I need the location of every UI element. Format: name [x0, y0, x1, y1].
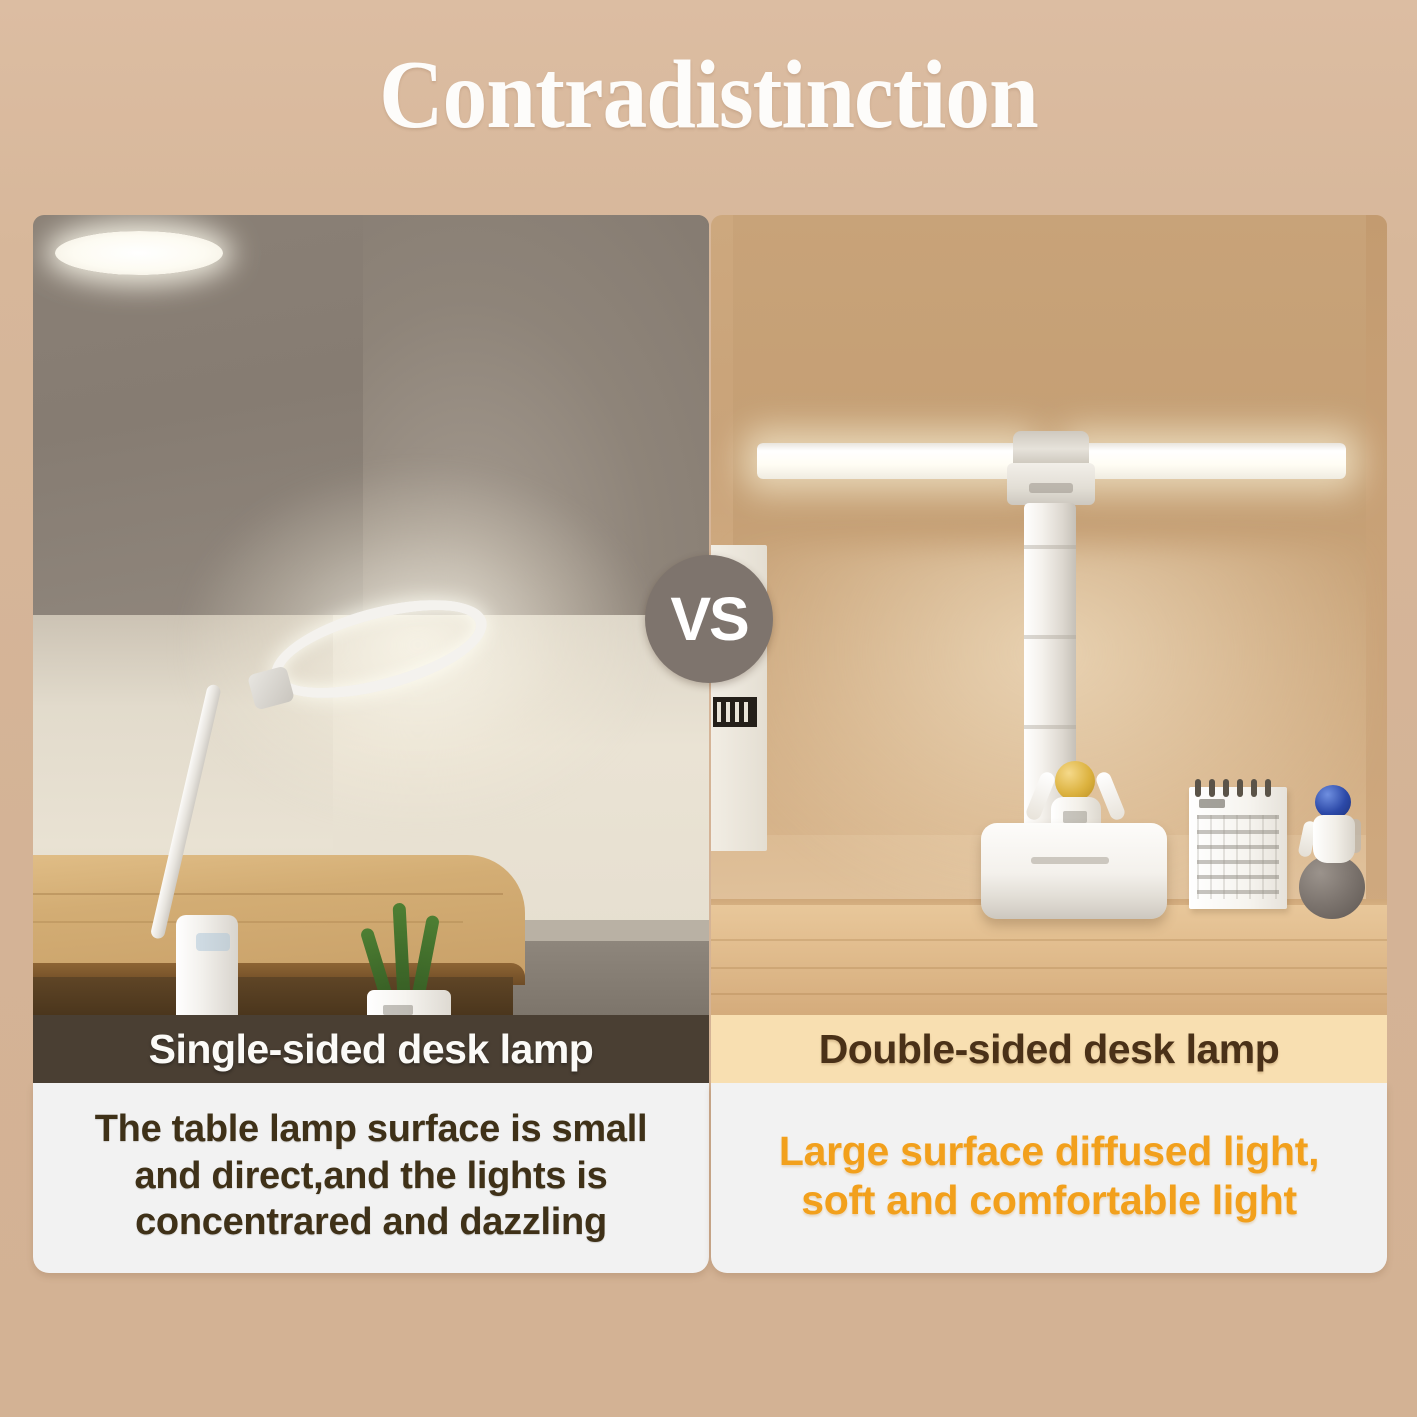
astronaut-blue-sphere [1299, 855, 1365, 919]
lamp-base [981, 823, 1167, 919]
description-single-sided: The table lamp surface is small and dire… [95, 1106, 647, 1245]
lamp-post-joint-1 [1024, 545, 1076, 549]
lamp-ring-light [55, 231, 223, 275]
desk-grain-1 [33, 893, 503, 895]
description-line: and direct,and the lights is [95, 1153, 647, 1199]
caption-single-sided: Single-sided desk lamp [33, 1015, 709, 1083]
calendar-date-columns [1197, 815, 1279, 899]
comparison-column-right: Double-sided desk lamp Large surface dif… [711, 215, 1387, 1273]
infographic-page: Contradistinction [0, 0, 1417, 1417]
double-sided-lamp-photo [711, 215, 1387, 1015]
page-title: Contradistinction [57, 44, 1361, 146]
description-double-sided: Large surface diffused light, soft and c… [779, 1127, 1319, 1225]
lamp-post-joint-3 [1024, 725, 1076, 729]
vs-badge: VS [645, 555, 773, 683]
lamp-bar-right [1071, 443, 1346, 479]
lamp-hinge-top [1013, 431, 1089, 467]
single-sided-lamp-photo [33, 215, 709, 1015]
astronaut-gold-helmet [1055, 761, 1095, 801]
astronaut-blue-helmet [1315, 785, 1351, 819]
lamp-hinge-notch [1029, 483, 1073, 493]
desk-surface [33, 855, 525, 975]
astronaut-blue-body [1313, 815, 1355, 863]
lamp-post-joint-2 [1024, 635, 1076, 639]
description-line: soft and comfortable light [779, 1176, 1319, 1225]
description-line: The table lamp surface is small [95, 1106, 647, 1152]
lamp-bar-left [757, 443, 1027, 479]
lamp-switch [196, 933, 230, 951]
caption-double-sided: Double-sided desk lamp [711, 1015, 1387, 1083]
calendar-binder-rings [1195, 779, 1281, 795]
description-line: Large surface diffused light, [779, 1127, 1319, 1176]
pot-label [383, 1005, 413, 1015]
description-line: concentrared and dazzling [95, 1199, 647, 1245]
description-box-right: Large surface diffused light, soft and c… [711, 1083, 1387, 1273]
desk-surface [711, 905, 1387, 1015]
comparison-column-left: Single-sided desk lamp The table lamp su… [33, 215, 709, 1273]
lamp-stem [176, 915, 238, 1015]
astronaut-gold-badge [1063, 811, 1087, 823]
calendar-header [1199, 799, 1225, 808]
description-box-left: The table lamp surface is small and dire… [33, 1083, 709, 1273]
lamp-base-button [1031, 857, 1109, 864]
